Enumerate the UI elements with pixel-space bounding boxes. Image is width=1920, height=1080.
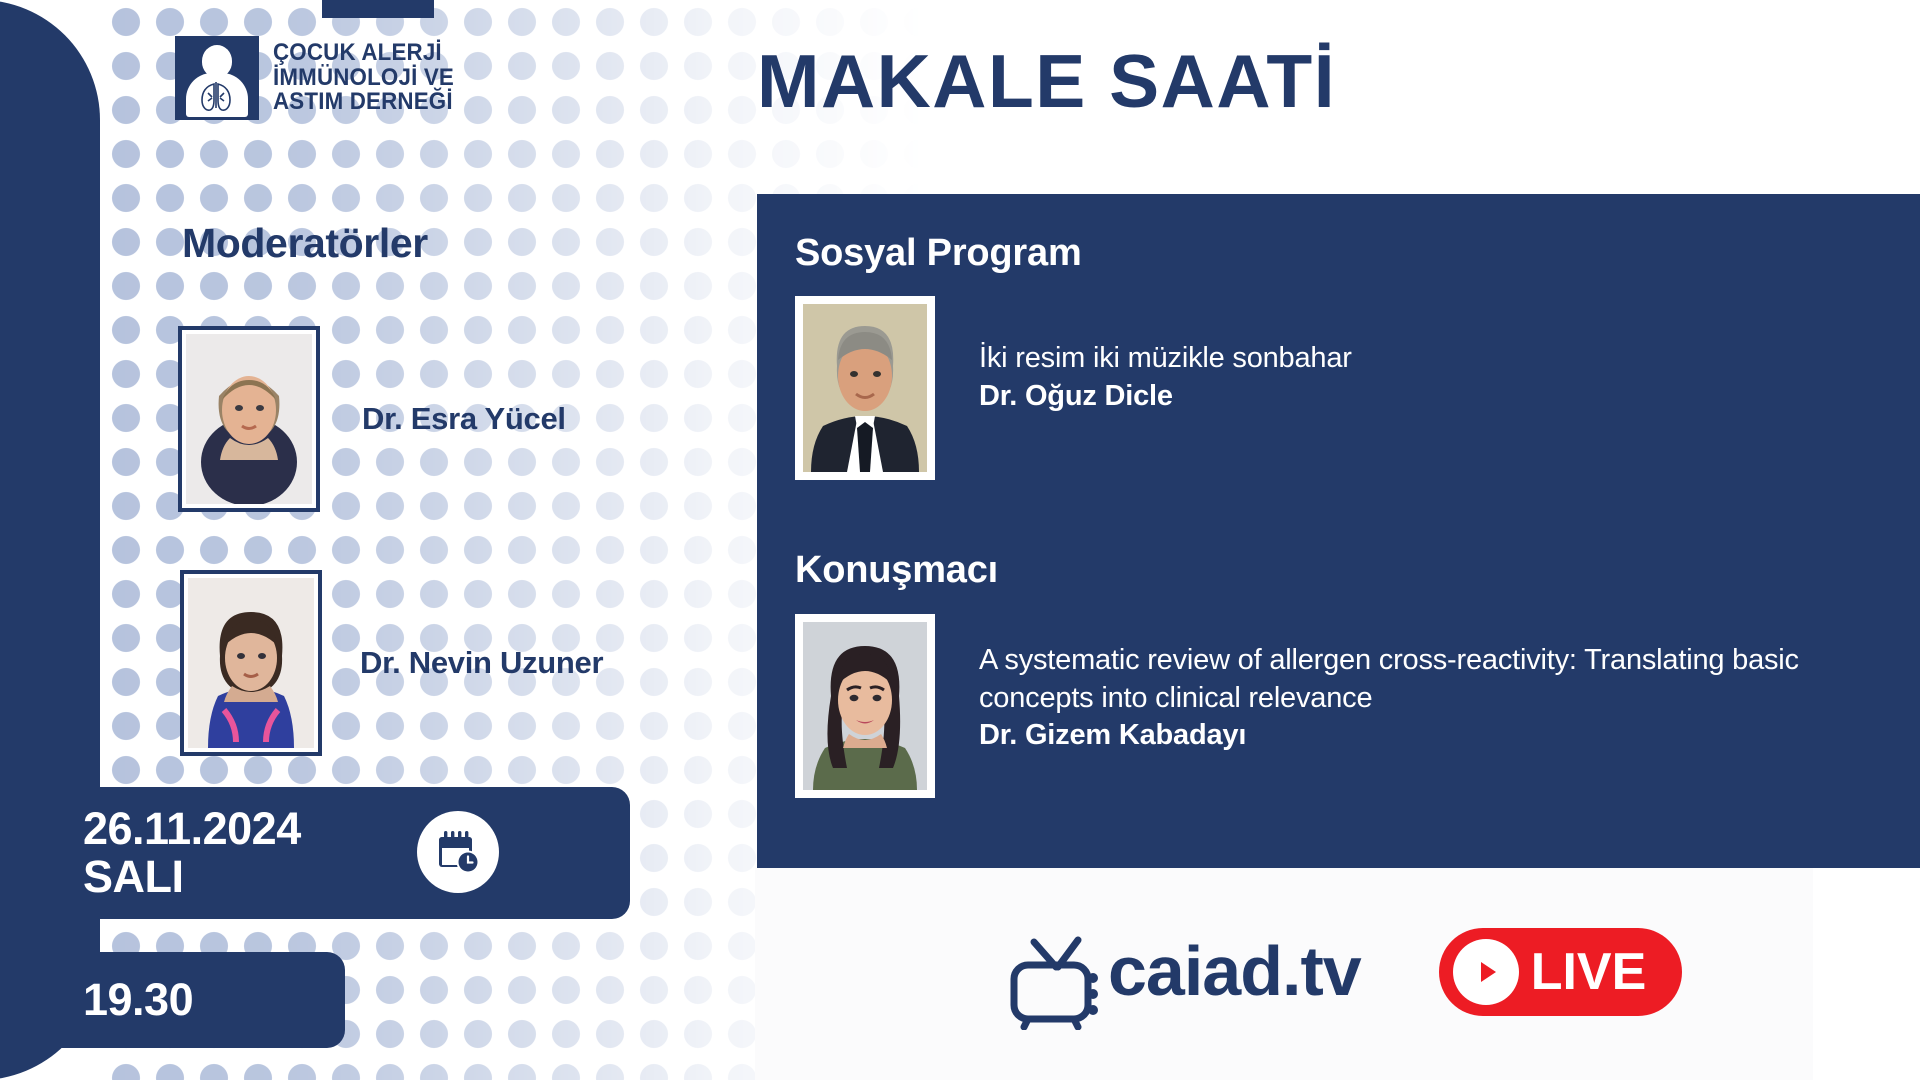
program-entry-konusmaci: A systematic review of allergen cross-re…: [795, 614, 1920, 798]
portrait-esra-yucel: [186, 334, 312, 504]
entry-person: Dr. Gizem Kabadayı: [979, 719, 1920, 752]
entry-title: A systematic review of allergen cross-re…: [979, 642, 1920, 717]
live-label: LIVE: [1531, 942, 1647, 1002]
time-badge: 19.30: [0, 952, 345, 1048]
tv-icon: [998, 912, 1116, 1030]
program-panel: Sosyal Program İki resim i: [757, 194, 1920, 868]
live-badge[interactable]: LIVE: [1439, 928, 1683, 1016]
organization-logo: ÇOCUK ALERJİ İMMÜNOLOJİ VE ASTIM DERNEĞİ: [175, 36, 468, 120]
org-name-line-1: ÇOCUK ALERJİ: [273, 41, 454, 66]
portrait-oguz-dicle: [803, 304, 927, 472]
moderator-item-1: Dr. Esra Yücel: [178, 326, 566, 512]
moderators-heading: Moderatörler: [182, 220, 428, 267]
lungs-glyph: [197, 80, 237, 114]
portrait-nevin-uzuner: [188, 578, 314, 748]
lungs-person-icon: [175, 36, 259, 120]
footer-bar: caiad.tv LIVE: [755, 868, 1813, 1080]
moderator-name: Dr. Esra Yücel: [362, 401, 566, 437]
top-accent-tab: [322, 0, 434, 18]
moderator-photo-frame: [178, 326, 320, 512]
organization-name: ÇOCUK ALERJİ İMMÜNOLOJİ VE ASTIM DERNEĞİ: [273, 41, 454, 115]
org-name-line-2: İMMÜNOLOJİ VE: [273, 66, 454, 91]
channel-name: caiad.tv: [1108, 931, 1361, 1011]
entry-title: İki resim iki müzikle sonbahar: [979, 340, 1352, 378]
channel-logo[interactable]: caiad.tv: [998, 912, 1361, 1030]
event-time: 19.30: [83, 974, 193, 1026]
moderator-photo-frame: [180, 570, 322, 756]
section-heading-konusmaci: Konuşmacı: [795, 549, 998, 592]
speaker-photo-frame: [795, 614, 935, 798]
page-title: MAKALE SAATİ: [757, 38, 1336, 124]
program-entry-sosyal: İki resim iki müzikle sonbahar Dr. Oğuz …: [795, 296, 1352, 480]
entry-text-block: İki resim iki müzikle sonbahar Dr. Oğuz …: [979, 340, 1352, 413]
moderator-item-2: Dr. Nevin Uzuner: [180, 570, 603, 756]
org-name-line-3: ASTIM DERNEĞİ: [273, 90, 454, 115]
calendar-clock-icon: [417, 811, 499, 893]
portrait-gizem-kabadayi: [803, 622, 927, 790]
event-date: 26.11.2024: [83, 805, 301, 853]
play-icon: [1453, 939, 1519, 1005]
speaker-photo-frame: [795, 296, 935, 480]
date-badge: 26.11.2024 SALI: [0, 787, 630, 919]
date-text-group: 26.11.2024 SALI: [83, 805, 301, 901]
event-day: SALI: [83, 853, 301, 901]
poster-canvas: ÇOCUK ALERJİ İMMÜNOLOJİ VE ASTIM DERNEĞİ…: [0, 0, 1920, 1080]
entry-person: Dr. Oğuz Dicle: [979, 380, 1352, 413]
entry-text-block: A systematic review of allergen cross-re…: [979, 642, 1920, 752]
moderator-name: Dr. Nevin Uzuner: [360, 645, 603, 681]
section-heading-sosyal-program: Sosyal Program: [795, 232, 1082, 275]
